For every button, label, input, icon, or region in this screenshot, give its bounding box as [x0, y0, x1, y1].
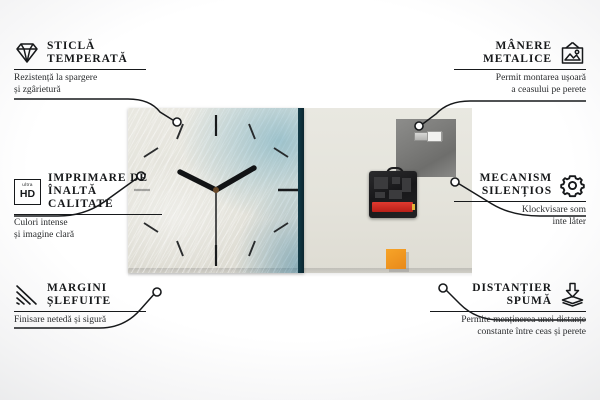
feature-subtitle-line2: inte låter — [454, 217, 586, 229]
feature-title-line2: TEMPERATĂ — [47, 53, 128, 66]
feature-metal-handles[interactable]: MÂNERE METALICE Permit montarea ușoară a… — [454, 40, 586, 96]
feature-subtitle-line2: și zgârietură — [14, 85, 146, 97]
feature-title-line1: MECANISM — [480, 172, 552, 185]
clock-dial — [128, 108, 304, 273]
feature-subtitle-line1: Rezistență la spargere — [14, 73, 146, 85]
feature-foam-spacer[interactable]: DISTANȚIER SPUMĂ Permite menținerea unei… — [430, 282, 586, 338]
feature-title-line2: SPUMĂ — [472, 295, 552, 308]
minute-hand — [216, 168, 254, 190]
feature-subtitle-line1: Klockvisare som — [454, 205, 586, 217]
hands-hub — [213, 187, 219, 193]
divider — [14, 69, 146, 70]
divider — [14, 311, 146, 312]
feature-subtitle-line1: Permit montarea ușoară — [454, 73, 586, 85]
diamond-icon — [14, 41, 40, 65]
hatched-edge-icon — [14, 283, 40, 307]
feature-silent-mechanism[interactable]: MECANISM SILENȚIOS Klockvisare som inte … — [454, 172, 586, 228]
ultra-hd-icon: ultra HD — [14, 179, 41, 205]
feature-title-line1: STICLĂ — [47, 40, 128, 53]
feature-title-line2: SILENȚIOS — [480, 185, 552, 198]
feature-tempered-glass[interactable]: STICLĂ TEMPERATĂ Rezistență la spargere … — [14, 40, 146, 96]
ultra-hd-large-text: HD — [20, 189, 35, 200]
down-arrow-stack-icon — [559, 282, 586, 308]
feature-polished-edges[interactable]: MARGINI ȘLEFUITE Finisare netedă și sigu… — [14, 282, 146, 327]
feature-subtitle-line2: a ceasului pe perete — [454, 85, 586, 97]
divider — [454, 69, 586, 70]
feature-subtitle-line1: Permite menținerea unei distanțe — [430, 315, 586, 327]
feature-title-line2: METALICE — [483, 53, 552, 66]
feature-subtitle-line1: Finisare netedă și sigură — [14, 315, 146, 327]
divider — [430, 311, 586, 312]
feature-subtitle-line2: constante între ceas și perete — [430, 327, 586, 339]
feature-title-line1: DISTANȚIER — [472, 282, 552, 295]
feature-title-line1: MARGINI — [47, 282, 111, 295]
feature-title-line2: ȘLEFUITE — [47, 295, 111, 308]
gear-icon — [559, 173, 586, 198]
feature-title-line1: MÂNERE — [483, 40, 552, 53]
divider — [454, 201, 586, 202]
picture-hanger-icon — [559, 41, 586, 66]
hour-hand — [180, 172, 216, 190]
infographic-canvas: STICLĂ TEMPERATĂ Rezistență la spargere … — [0, 0, 600, 400]
